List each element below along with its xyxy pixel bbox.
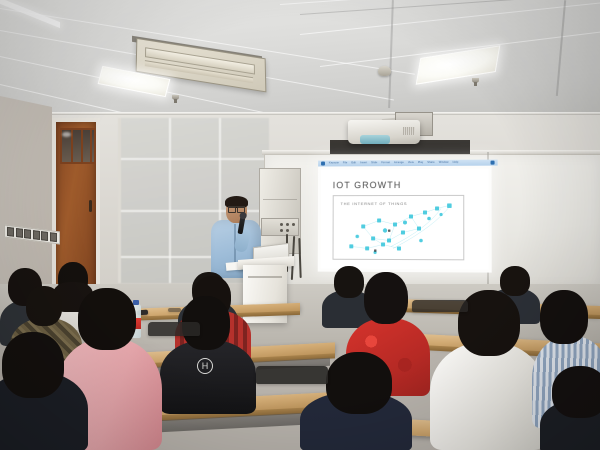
slide-canvas: IOT GROWTH THE INTERNET OF THINGS xyxy=(321,169,489,270)
projected-slide: Keynote File Edit Insert Slide Format Ar… xyxy=(318,160,492,273)
classroom-presentation-photo: Keynote File Edit Insert Slide Format Ar… xyxy=(0,0,600,450)
socket[interactable] xyxy=(41,231,48,241)
projector xyxy=(348,120,420,144)
av-button[interactable] xyxy=(286,229,289,232)
menu-item-window[interactable]: Window xyxy=(439,160,449,166)
menu-item-file[interactable]: File xyxy=(343,160,348,166)
smoke-detector-right xyxy=(378,66,391,76)
ceiling-light-strip xyxy=(0,0,60,28)
av-control-panel[interactable] xyxy=(261,218,299,236)
glasses-icon xyxy=(228,206,245,211)
socket[interactable] xyxy=(7,227,14,237)
menu-item-slide[interactable]: Slide xyxy=(371,160,377,166)
menu-item-edit[interactable]: Edit xyxy=(351,160,356,166)
av-equipment-cabinet[interactable] xyxy=(259,168,301,254)
sprinkler-left xyxy=(172,95,179,100)
slide-content-box: THE INTERNET OF THINGS xyxy=(333,195,465,260)
chair-middle xyxy=(256,366,328,384)
apple-logo-icon[interactable] xyxy=(321,162,325,166)
socket[interactable] xyxy=(16,228,23,238)
socket[interactable] xyxy=(24,229,31,239)
menu-item-arrange[interactable]: Arrange xyxy=(394,160,404,166)
menu-item-play[interactable]: Play xyxy=(418,160,423,166)
chair-right xyxy=(412,300,468,312)
menu-item-view[interactable]: View xyxy=(408,160,414,166)
pen-on-desk[interactable] xyxy=(168,308,181,312)
led-panel-light-right xyxy=(416,45,501,84)
menu-item-share[interactable]: Share xyxy=(427,160,434,166)
iot-network-diagram xyxy=(334,196,464,259)
menu-item-keynote[interactable]: Keynote xyxy=(329,160,339,166)
chair-back xyxy=(148,322,200,336)
av-button[interactable] xyxy=(292,223,295,226)
socket[interactable] xyxy=(33,230,40,240)
projector-lens-icon xyxy=(360,135,390,144)
lectern-detail xyxy=(248,276,282,278)
sprinkler-right xyxy=(472,78,479,83)
slide-title: IOT GROWTH xyxy=(333,180,402,190)
menu-item-help[interactable]: Help xyxy=(453,160,459,166)
projector-vent xyxy=(403,127,415,135)
projected-menubar[interactable]: Keynote File Edit Insert Slide Format Ar… xyxy=(318,160,498,167)
battery-icon[interactable] xyxy=(491,161,495,165)
tshirt-logo: H xyxy=(197,358,213,374)
door-glass-reflection xyxy=(62,132,71,137)
ceiling xyxy=(0,0,600,118)
av-button[interactable] xyxy=(280,229,283,232)
av-button[interactable] xyxy=(280,223,283,226)
menu-item-insert[interactable]: Insert xyxy=(360,160,367,166)
av-button[interactable] xyxy=(286,223,289,226)
menu-item-format[interactable]: Format xyxy=(381,160,390,166)
socket[interactable] xyxy=(50,232,57,242)
door-handle-icon[interactable] xyxy=(89,200,92,212)
